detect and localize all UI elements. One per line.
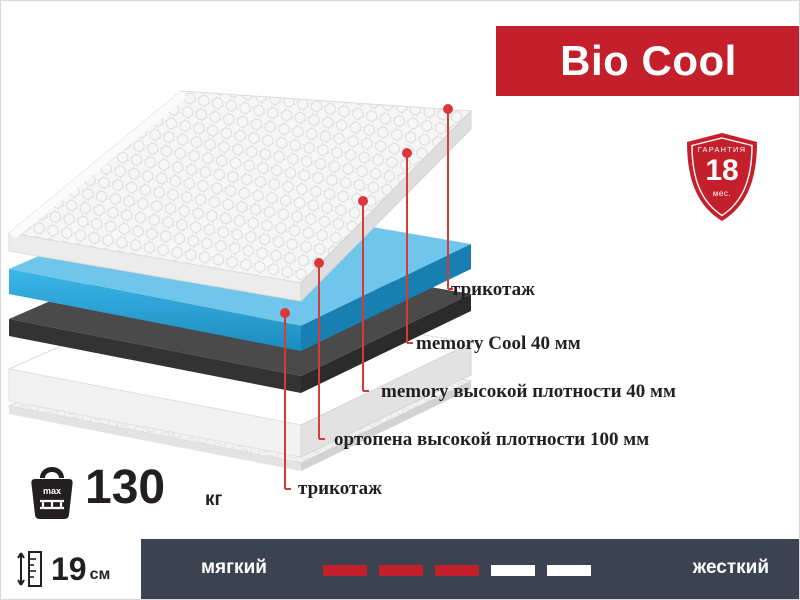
firmness-segment-3 xyxy=(435,565,479,576)
svg-text:max: max xyxy=(43,486,61,496)
height-value: 19 xyxy=(51,551,87,588)
firmness-scale xyxy=(323,565,589,577)
max-weight-icon: max xyxy=(29,463,75,521)
firmness-segment-1 xyxy=(323,565,367,576)
guarantee-number: 18 xyxy=(683,155,761,187)
layer-label-orthofoam: ортопена высокой плотности 100 мм xyxy=(334,429,649,451)
firmness-segment-4 xyxy=(491,565,535,576)
layer-label-memory-dense: memory высокой плотности 40 мм xyxy=(381,381,676,403)
max-weight-unit: кг xyxy=(205,489,222,511)
guarantee-top-text: ГАРАНТИЯ xyxy=(683,145,761,154)
layer-label-knit-bottom: трикотаж xyxy=(298,478,382,500)
height-ruler-icon xyxy=(17,549,43,589)
height-unit: см xyxy=(90,566,111,584)
guarantee-unit: мес. xyxy=(683,189,761,198)
brand-name: Bio Cool xyxy=(560,37,737,85)
guarantee-badge: ГАРАНТИЯ 18 мес. xyxy=(683,131,761,223)
firmness-segment-5 xyxy=(547,565,591,576)
brand-banner: Bio Cool xyxy=(496,26,800,96)
firmness-bar: 19 см мягкий жесткий xyxy=(1,539,800,599)
layer-label-knit-top: трикотаж xyxy=(451,279,535,301)
firmness-soft-label: мягкий xyxy=(201,557,267,579)
max-weight-value: 130 xyxy=(85,459,165,517)
firmness-hard-label: жесткий xyxy=(693,557,769,579)
product-infographic: Bio Cool ГАРАНТИЯ 18 мес. трикотаж memor… xyxy=(0,0,800,600)
firmness-segment-2 xyxy=(379,565,423,576)
height-chip: 19 см xyxy=(1,539,141,599)
layer-label-memory-cool: memory Cool 40 мм xyxy=(416,333,581,355)
